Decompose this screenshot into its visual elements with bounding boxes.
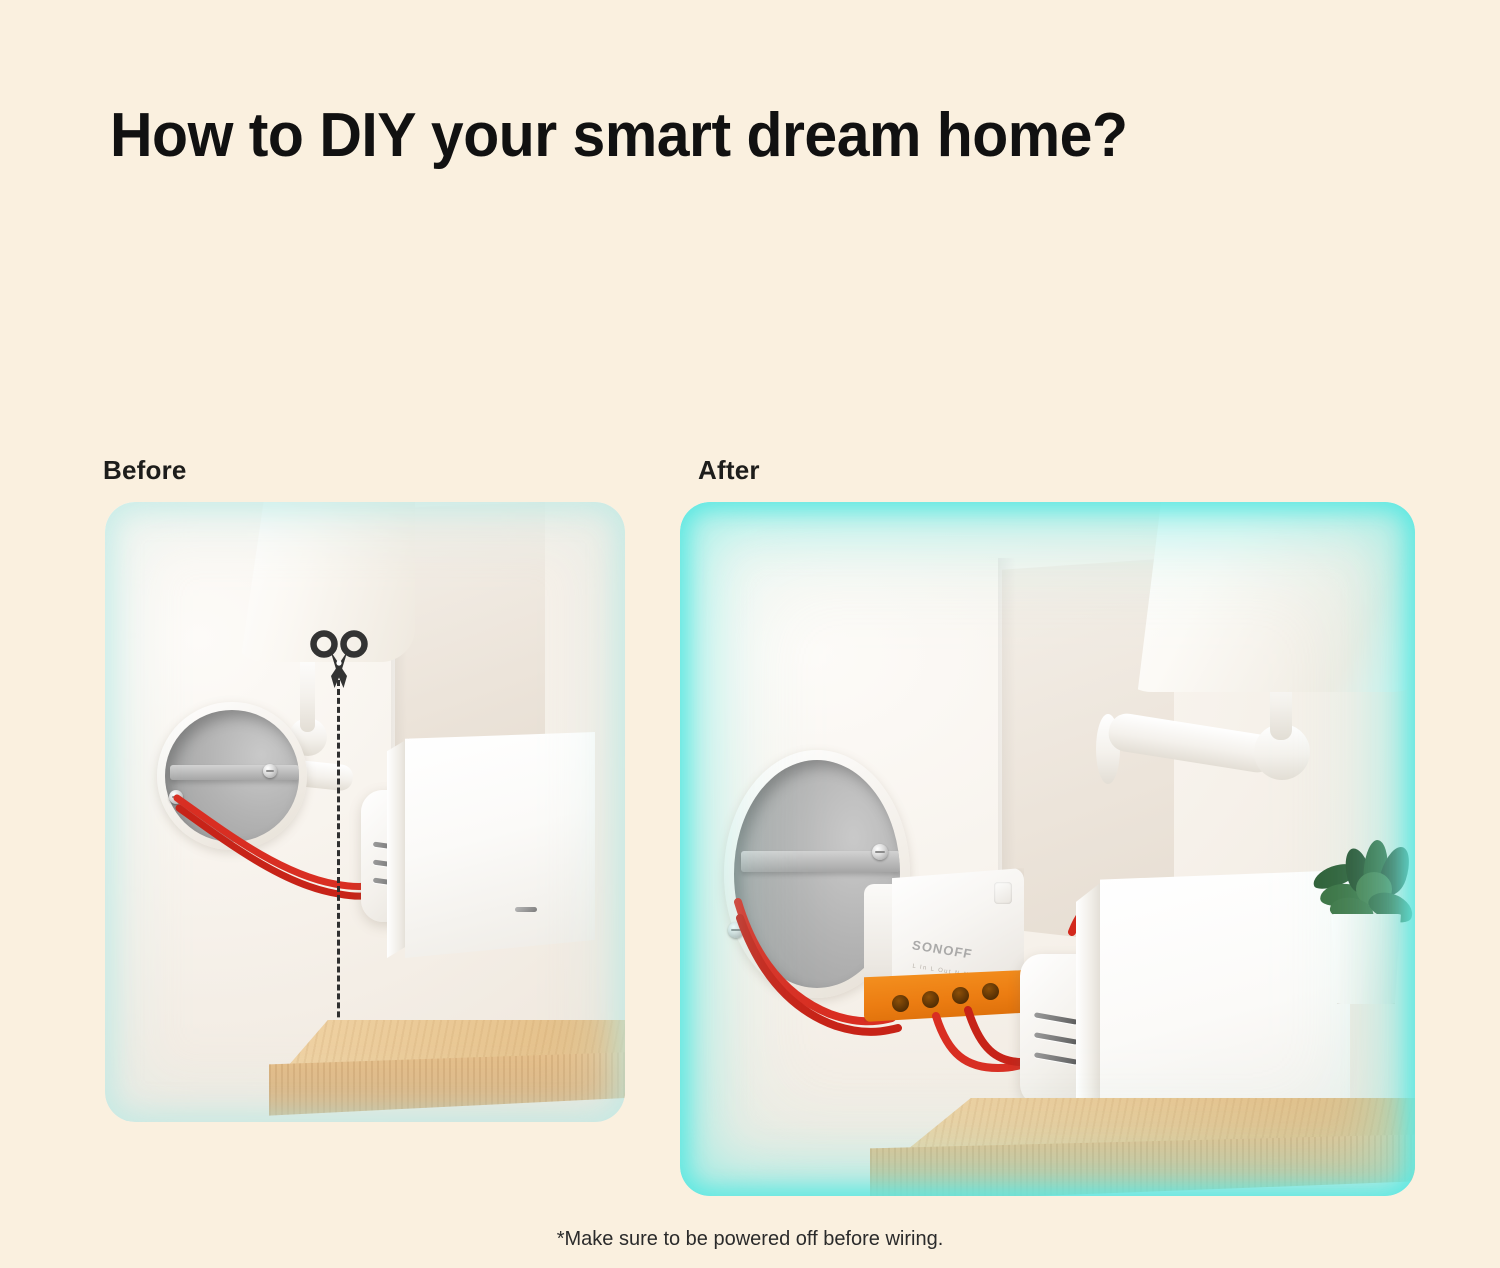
panel-before [105,502,625,1122]
potted-plant [1306,832,1415,1032]
panel-after: SONOFF L In L Out N N [680,502,1415,1196]
switch-face-plate[interactable] [405,732,595,958]
junction-box-screw-left [728,922,744,938]
sonoff-terminal-port [982,983,999,1000]
junction-box-screw-right [872,844,888,860]
switch-vent-slot [1034,1052,1078,1065]
footnote-text: *Make sure to be powered off before wiri… [0,1228,1500,1251]
junction-box-cavity [165,710,299,842]
switch-vent-slot [1034,1012,1078,1025]
sonoff-brand-logo: SONOFF [911,937,974,961]
page-title: How to DIY your smart dream home? [110,100,1127,171]
panel-label-before: Before [103,455,187,486]
sonoff-terminal-port [892,995,909,1012]
panel-label-after: After [698,455,760,486]
scene-after: SONOFF L In L Out N N [680,502,1415,1196]
scissors-icon [307,630,371,694]
poster-root: How to DIY your smart dream home? Before… [0,0,1500,1268]
switch-led-indicator [515,907,537,912]
sonoff-pairing-button[interactable] [994,882,1012,904]
junction-box-screw-left [169,790,183,804]
junction-box-screw-right [263,764,277,778]
scene-before [105,502,625,1122]
plant-pot [1328,914,1404,1004]
switch-vent-slot [1034,1032,1078,1045]
sonoff-terminal-port [922,991,939,1008]
sonoff-terminal-port [952,987,969,1004]
junction-box-mounting-bar [170,765,299,780]
